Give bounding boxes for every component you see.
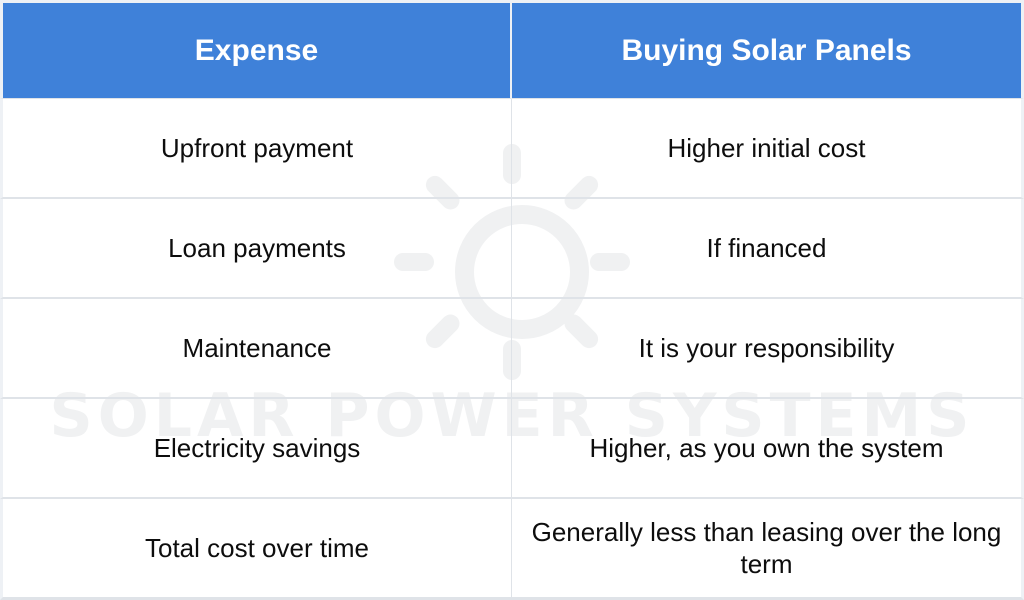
table-row: Electricity savings Higher, as you own t… — [0, 399, 1024, 499]
table-row: Upfront payment Higher initial cost — [0, 99, 1024, 199]
table-header: Expense Buying Solar Panels — [0, 0, 1024, 99]
cell-buying: Higher, as you own the system — [512, 399, 1024, 499]
comparison-table-container: SOLAR POWER SYSTEMS Expense Buying Solar… — [0, 0, 1024, 600]
cell-expense: Upfront payment — [0, 99, 512, 199]
comparison-table: Expense Buying Solar Panels Upfront paym… — [0, 0, 1024, 600]
cell-buying: If financed — [512, 199, 1024, 299]
cell-buying: It is your responsibility — [512, 299, 1024, 399]
table-row: Maintenance It is your responsibility — [0, 299, 1024, 399]
table-row: Loan payments If financed — [0, 199, 1024, 299]
column-header-expense: Expense — [0, 0, 512, 99]
cell-expense: Maintenance — [0, 299, 512, 399]
cell-buying: Higher initial cost — [512, 99, 1024, 199]
cell-expense: Loan payments — [0, 199, 512, 299]
table-row: Total cost over time Generally less than… — [0, 499, 1024, 600]
table-body: Upfront payment Higher initial cost Loan… — [0, 99, 1024, 600]
cell-expense: Total cost over time — [0, 499, 512, 600]
cell-expense: Electricity savings — [0, 399, 512, 499]
cell-buying: Generally less than leasing over the lon… — [512, 499, 1024, 600]
header-row: Expense Buying Solar Panels — [0, 0, 1024, 99]
column-header-buying-solar-panels: Buying Solar Panels — [512, 0, 1024, 99]
